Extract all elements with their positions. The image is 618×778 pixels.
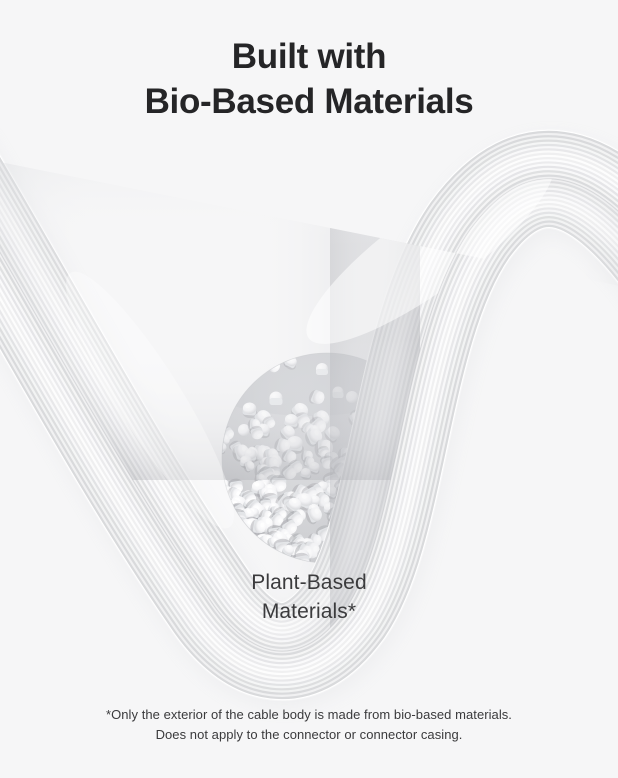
footnote-line-1: *Only the exterior of the cable body is … (0, 705, 618, 725)
promo-page: Built with Bio-Based Materials (0, 0, 618, 778)
pellet-caption: Plant-Based Materials* (0, 568, 618, 626)
caption-line-1: Plant-Based (0, 568, 618, 597)
footnote-line-2: Does not apply to the connector or conne… (0, 725, 618, 745)
caption-line-2: Materials* (0, 597, 618, 626)
product-artwork (0, 0, 618, 778)
cable-and-pellets-illustration (0, 0, 618, 778)
footnote: *Only the exterior of the cable body is … (0, 705, 618, 745)
